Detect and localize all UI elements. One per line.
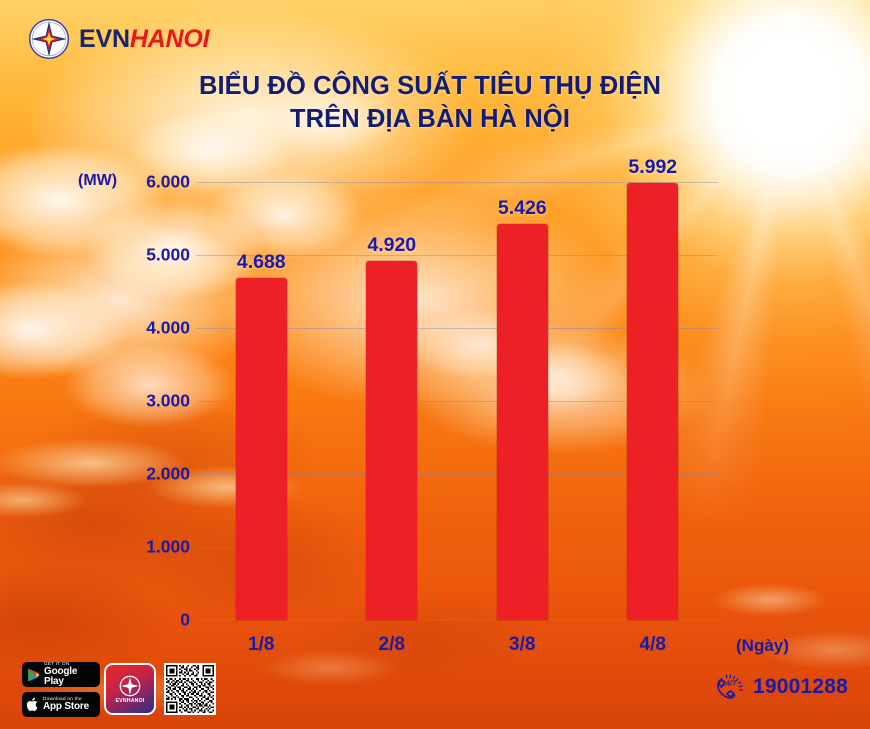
svg-text:24/7: 24/7 xyxy=(722,679,737,688)
page-title: BIỂU ĐỒ CÔNG SUẤT TIÊU THỤ ĐIỆN TRÊN ĐỊA… xyxy=(110,70,750,136)
infographic-poster: EVNHANOI BIỂU ĐỒ CÔNG SUẤT TIÊU THỤ ĐIỆN… xyxy=(0,0,870,729)
hotline-number: 19001288 xyxy=(753,675,848,699)
apple-icon xyxy=(27,697,39,712)
brand-name-evn: EVN xyxy=(79,25,130,53)
qr-code-icon[interactable] xyxy=(164,663,216,715)
qr-code-matrix xyxy=(166,665,214,713)
google-play-icon xyxy=(27,668,40,682)
evn-star-icon-small xyxy=(119,675,141,697)
hotline: 24/7 19001288 xyxy=(712,672,848,702)
brand-name-hanoi: HANOI xyxy=(130,25,210,53)
brand-logo: EVNHANOI xyxy=(28,18,209,60)
app-store-label: Download on the App Store xyxy=(43,697,89,712)
google-play-button[interactable]: GET IT ON Google Play xyxy=(22,662,100,687)
app-store-name: App Store xyxy=(43,702,89,712)
evn-star-icon xyxy=(28,18,70,60)
app-store-button[interactable]: Download on the App Store xyxy=(22,692,100,717)
store-badges: GET IT ON Google Play Download on the Ap… xyxy=(22,662,100,717)
google-play-name: Google Play xyxy=(44,667,95,687)
evnhanoi-app-icon[interactable]: EVNHANOI xyxy=(104,663,156,715)
app-tile-label: EVNHANOI xyxy=(116,698,145,704)
title-line-1: BIỂU ĐỒ CÔNG SUẤT TIÊU THỤ ĐIỆN xyxy=(110,70,750,103)
google-play-label: GET IT ON Google Play xyxy=(44,662,95,687)
title-line-2: TRÊN ĐỊA BÀN HÀ NỘI xyxy=(110,103,750,136)
phone-24-7-icon: 24/7 xyxy=(712,672,746,702)
brand-wordmark: EVNHANOI xyxy=(79,27,209,52)
